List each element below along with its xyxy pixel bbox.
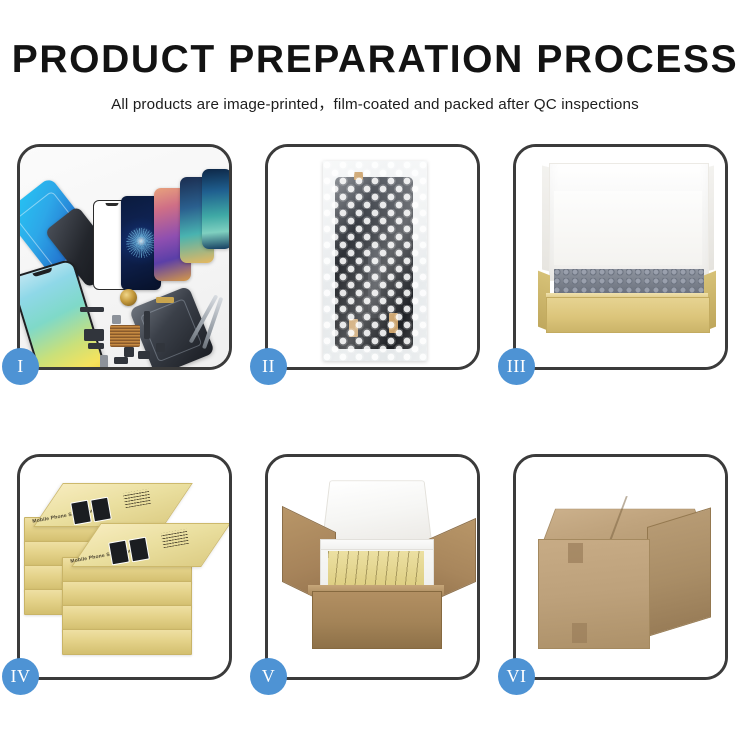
copper-mesh-part — [110, 325, 140, 347]
vibrator-part — [114, 357, 128, 364]
process-step-grid: I II — [0, 0, 750, 750]
sim-tray-part — [100, 355, 108, 367]
speaker-coil-part — [120, 289, 137, 306]
carton-front-face — [538, 539, 650, 649]
step-badge-5: V — [250, 658, 287, 695]
sealed-shipping-carton-scene — [516, 457, 725, 677]
open-inner-box-scene — [516, 147, 725, 367]
step-badge-6: VI — [498, 658, 535, 695]
step-badge-3: III — [498, 348, 535, 385]
foam-lid-open — [322, 480, 432, 542]
bubble-wrap-package — [323, 161, 427, 361]
plastic-sheen — [323, 161, 427, 361]
bracket-part — [88, 343, 104, 349]
process-step-panel-2: II — [265, 144, 480, 370]
box-front-face — [546, 297, 710, 333]
carton-front-face — [312, 591, 442, 649]
process-step-panel-6: VI — [513, 454, 728, 680]
bubble-wrapped-screen-scene — [268, 147, 477, 367]
blue-teal-screen — [202, 169, 229, 249]
carton-tape-upper — [568, 543, 583, 563]
step-badge-2: II — [250, 348, 287, 385]
box-stack: Mobile Phone Spare Parts Mobile Phone Sp… — [20, 457, 229, 677]
panel-2-image — [268, 147, 477, 367]
gold-contact-part — [156, 297, 174, 303]
small-metal-part — [112, 315, 121, 324]
panel-4-image: Mobile Phone Spare Parts Mobile Phone Sp… — [20, 457, 229, 677]
carton-tape-lower — [572, 623, 587, 643]
phone-screens-and-parts-scene — [20, 147, 229, 367]
box-thumb-rear-2 — [90, 497, 112, 523]
panel-6-image — [516, 457, 725, 677]
carton-side-face — [647, 507, 711, 637]
stack-box-front-4 — [62, 629, 192, 655]
ribbon-cable-part — [144, 311, 150, 339]
stack-box-front-3 — [62, 605, 192, 631]
connector-part — [84, 329, 104, 341]
screw-set-part — [156, 343, 165, 352]
process-step-panel-1: I — [17, 144, 232, 370]
camera-module-part — [138, 351, 150, 359]
box-thumb-front-2 — [128, 537, 150, 563]
yellow-boxes-inside — [328, 551, 424, 589]
spare-parts-cluster — [78, 285, 196, 367]
panel-5-image — [268, 457, 477, 677]
stack-box-front-2 — [62, 581, 192, 607]
panel-1-image — [20, 147, 229, 367]
foam-liner — [554, 191, 702, 265]
button-part — [124, 347, 134, 357]
box-thumb-rear-1 — [70, 500, 92, 526]
process-step-panel-5: V — [265, 454, 480, 680]
panel-3-image — [516, 147, 725, 367]
flex-cable-part — [80, 307, 104, 312]
carton-with-foam-box-scene — [268, 457, 477, 677]
process-step-panel-4: Mobile Phone Spare Parts Mobile Phone Sp… — [17, 454, 232, 680]
box-thumb-front-1 — [108, 540, 130, 566]
process-step-panel-3: III — [513, 144, 728, 370]
stacked-spare-part-boxes-scene: Mobile Phone Spare Parts Mobile Phone Sp… — [20, 457, 229, 677]
step-badge-1: I — [2, 348, 39, 385]
step-badge-4: IV — [2, 658, 39, 695]
